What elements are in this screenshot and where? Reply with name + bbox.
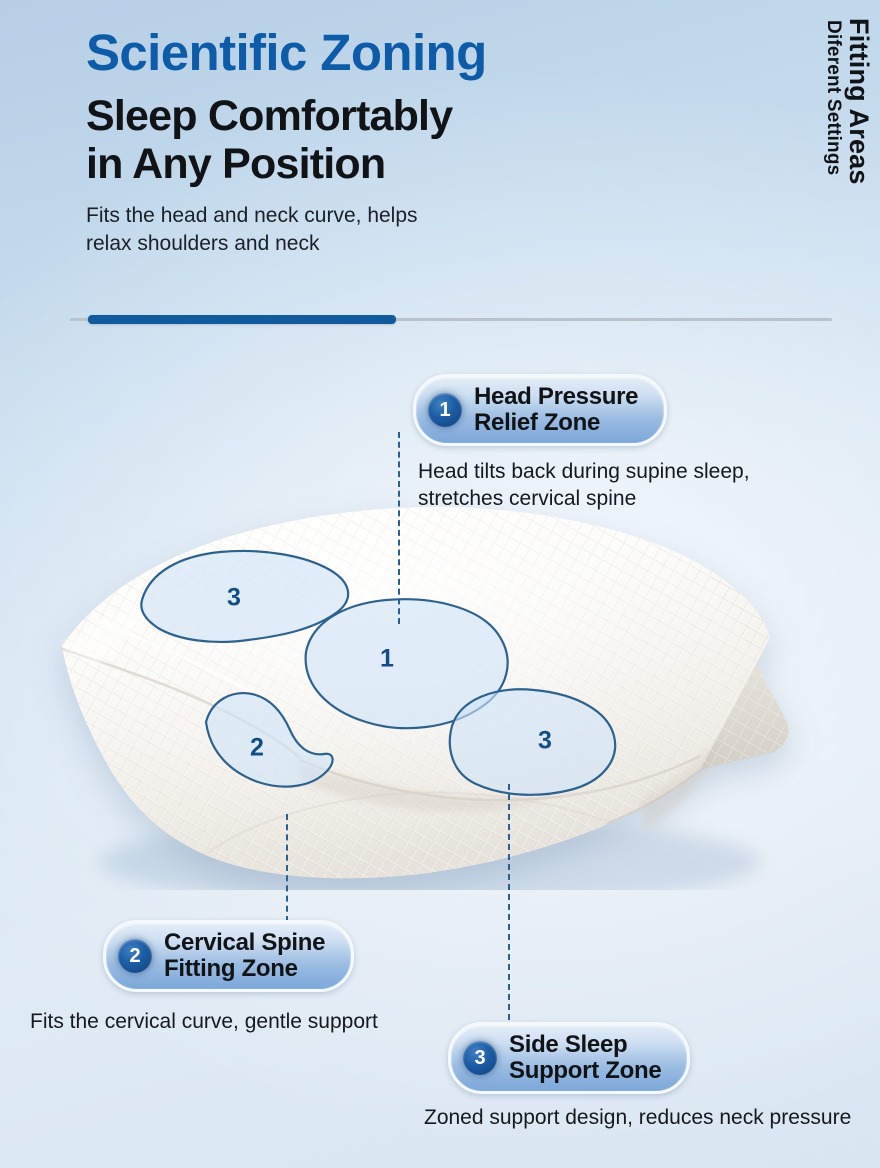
header-description-line1: Fits the head and neck curve, helps xyxy=(86,202,706,230)
zone-label-3-right: 3 xyxy=(538,727,552,756)
page-subtitle-line2: in Any Position xyxy=(86,140,706,188)
header-description-line2: relax shoulders and neck xyxy=(86,230,706,258)
callout-title-3-line2: Support Zone xyxy=(509,1058,661,1084)
callout-title-2: Cervical Spine Fitting Zone xyxy=(164,930,325,982)
callout-note-1: Head tilts back during supine sleep, str… xyxy=(418,458,858,513)
vertical-text-secondary: Diferent Settings xyxy=(824,20,843,175)
leader-line-zone-3 xyxy=(508,784,510,1020)
infographic-poster: Scientific Zoning Sleep Comfortably in A… xyxy=(0,0,880,1168)
divider-progress-fill xyxy=(88,315,396,324)
callout-title-1-line1: Head Pressure xyxy=(474,384,638,410)
callout-title-2-line1: Cervical Spine xyxy=(164,930,325,956)
pillow-zone-labels: 3 1 2 3 xyxy=(0,470,880,890)
zone-label-3-upper-left: 3 xyxy=(227,584,241,613)
callout-title-1: Head Pressure Relief Zone xyxy=(474,384,638,436)
callout-note-3: Zoned support design, reduces neck press… xyxy=(424,1104,880,1131)
leader-line-zone-2 xyxy=(286,814,288,922)
zone-label-1-center: 1 xyxy=(380,645,394,674)
callout-title-2-line2: Fitting Zone xyxy=(164,956,325,982)
callout-badge-1[interactable]: 1 Head Pressure Relief Zone xyxy=(413,374,667,446)
page-subtitle-line1: Sleep Comfortably xyxy=(86,92,706,140)
page-subtitle: Sleep Comfortably in Any Position xyxy=(86,92,706,188)
callout-number-3: 3 xyxy=(463,1041,497,1075)
leader-line-zone-1 xyxy=(398,432,400,624)
callout-badge-2[interactable]: 2 Cervical Spine Fitting Zone xyxy=(103,920,354,992)
callout-note-2: Fits the cervical curve, gentle support xyxy=(30,1008,490,1035)
callout-title-1-line2: Relief Zone xyxy=(474,410,638,436)
header-description: Fits the head and neck curve, helps rela… xyxy=(86,202,706,257)
callout-note-2-line1: Fits the cervical curve, gentle support xyxy=(30,1008,490,1035)
vertical-side-text: Fitting Areas Diferent Settings xyxy=(824,18,872,258)
vertical-text-primary: Fitting Areas xyxy=(845,18,872,185)
section-divider xyxy=(70,318,832,321)
callout-title-3: Side Sleep Support Zone xyxy=(509,1032,661,1084)
callout-note-3-line1: Zoned support design, reduces neck press… xyxy=(424,1104,880,1131)
callout-note-1-line1: Head tilts back during supine sleep, xyxy=(418,458,858,485)
callout-note-1-line2: stretches cervical spine xyxy=(418,485,858,512)
callout-title-3-line1: Side Sleep xyxy=(509,1032,661,1058)
zone-label-2-cervical: 2 xyxy=(250,734,264,763)
callout-number-1: 1 xyxy=(428,393,462,427)
callout-badge-3[interactable]: 3 Side Sleep Support Zone xyxy=(448,1022,690,1094)
page-title: Scientific Zoning xyxy=(86,26,706,80)
header-block: Scientific Zoning Sleep Comfortably in A… xyxy=(86,26,706,258)
callout-number-2: 2 xyxy=(118,939,152,973)
